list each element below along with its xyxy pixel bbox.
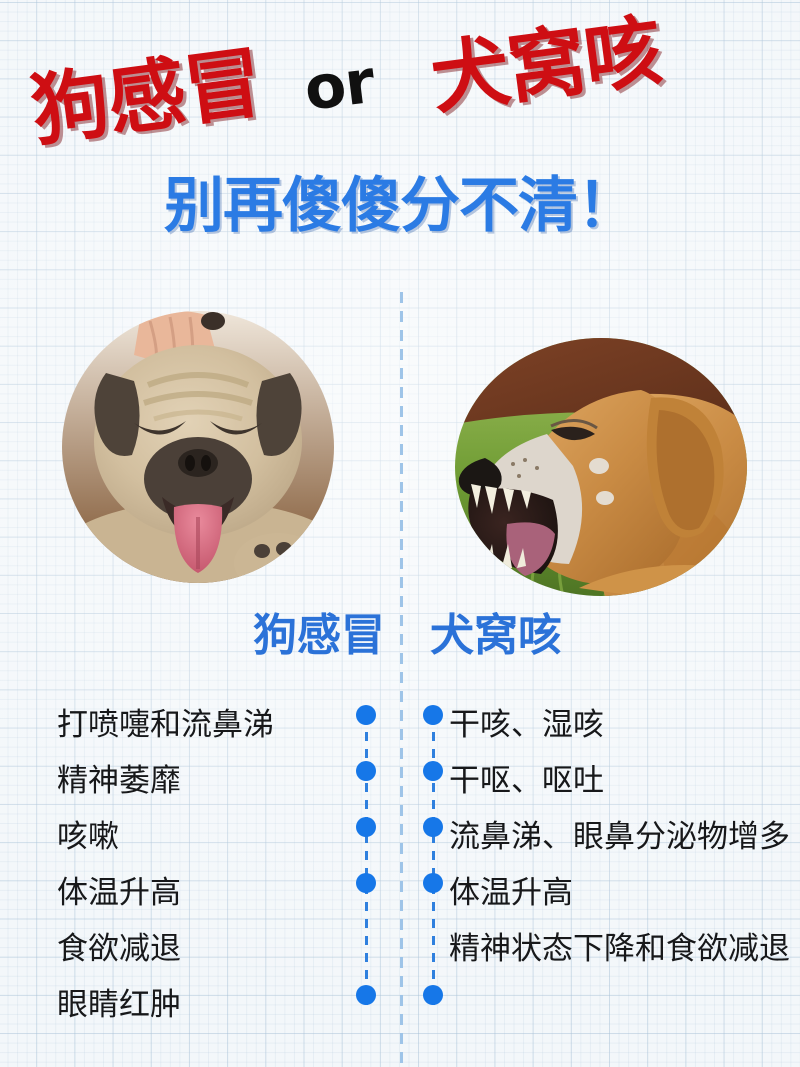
timeline-dot [356, 817, 376, 837]
list-item: 精神状态下降和食欲减退 [449, 921, 795, 977]
timeline-dot [423, 873, 443, 893]
column-header-cold: 狗感冒 [0, 614, 385, 658]
pug-dog-illustration [62, 311, 334, 583]
timeline-dot [356, 705, 376, 725]
timeline-left [356, 705, 376, 995]
list-item: 体温升高 [57, 865, 330, 921]
center-dashed-divider [400, 292, 403, 1067]
list-item: 干咳、湿咳 [449, 697, 795, 753]
timeline-dot [356, 985, 376, 1005]
timeline-right-dotted-line [432, 715, 435, 1005]
timeline-dot [423, 985, 443, 1005]
coughing-dog-illustration [455, 338, 747, 596]
headline-left-red-text: 狗感冒 [27, 44, 266, 151]
timeline-dot [356, 873, 376, 893]
timeline-dot [356, 761, 376, 781]
list-item: 食欲减退 [57, 921, 330, 977]
pug-dog-photo [62, 311, 334, 583]
list-item: 眼睛红肿 [57, 977, 330, 1033]
symptom-list-kennel-cough: 干咳、湿咳 干呕、呕吐 流鼻涕、眼鼻分泌物增多 体温升高 精神状态下降和食欲减退 [449, 697, 795, 977]
list-item: 打喷嚏和流鼻涕 [57, 697, 330, 753]
coughing-dog-photo [455, 338, 747, 596]
list-item: 体温升高 [449, 865, 795, 921]
list-item: 精神萎靡 [57, 753, 330, 809]
symptom-list-cold: 打喷嚏和流鼻涕 精神萎靡 咳嗽 体温升高 食欲减退 眼睛红肿 [0, 697, 330, 1033]
timeline-right [423, 705, 443, 995]
headline-group: 狗感冒 or 犬窝咳 [0, 46, 800, 176]
headline-conjunction: or [301, 52, 377, 120]
timeline-dot [423, 761, 443, 781]
list-item: 干呕、呕吐 [449, 753, 795, 809]
timeline-dot [423, 817, 443, 837]
column-header-kennel-cough: 犬窝咳 [430, 614, 562, 658]
list-item: 咳嗽 [57, 809, 330, 865]
timeline-dot [423, 705, 443, 725]
headline-subtitle: 别再傻傻分不清！ [0, 175, 800, 238]
list-item: 流鼻涕、眼鼻分泌物增多 [449, 809, 795, 865]
timeline-left-dotted-line [365, 715, 368, 1005]
